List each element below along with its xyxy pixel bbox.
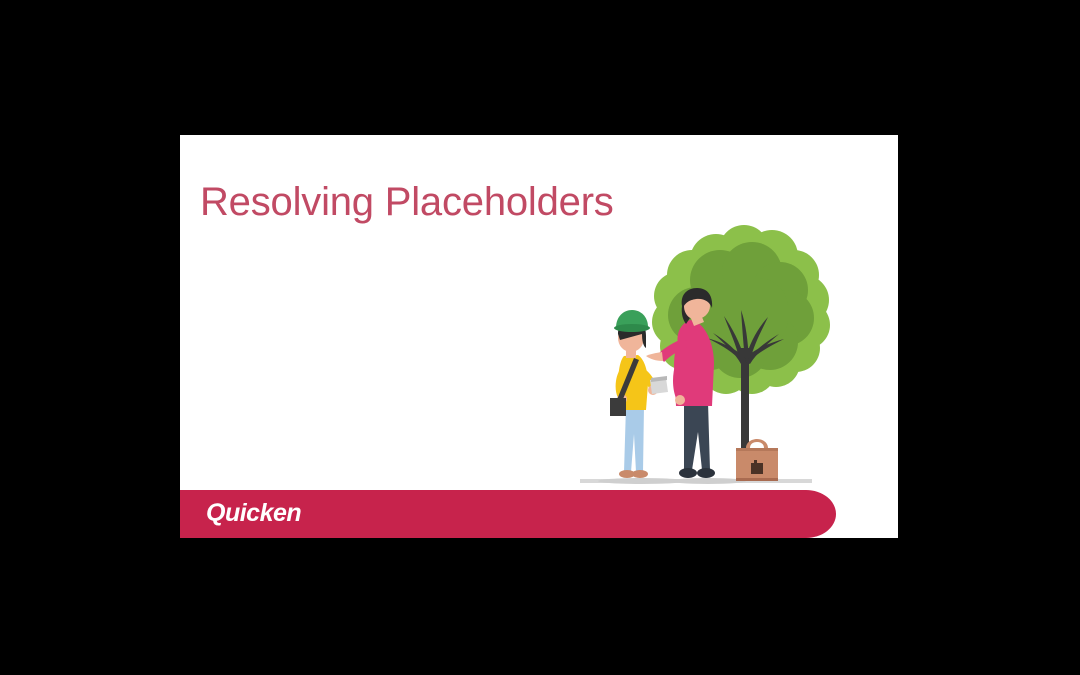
illustration-two-people-under-tree	[580, 220, 880, 485]
screen: Resolving Placeholders	[0, 0, 1080, 675]
presentation-slide: Resolving Placeholders	[180, 135, 898, 538]
brand-banner: Quicken	[180, 490, 836, 538]
quicken-logo: Quicken	[206, 501, 301, 526]
page-title: Resolving Placeholders	[200, 182, 614, 222]
